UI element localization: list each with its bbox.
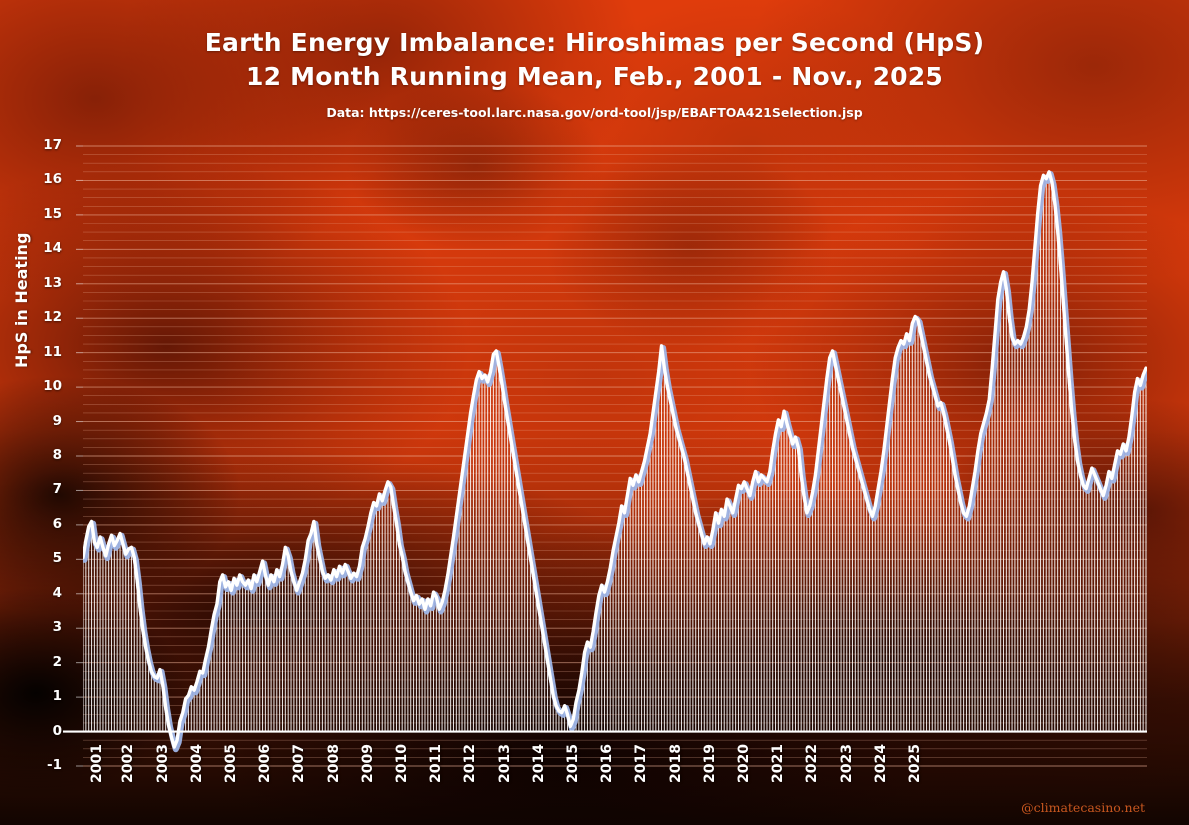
chart-data-source-subtitle: Data: https://ceres-tool.larc.nasa.gov/o… [0, 105, 1189, 120]
y-tick-label-5: 5 [28, 550, 62, 566]
x-tick-label-2008: 2008 [326, 744, 342, 783]
y-tick-label-15: 15 [28, 206, 62, 222]
x-tick-label-2020: 2020 [736, 744, 752, 783]
x-tick-label-2018: 2018 [668, 744, 684, 783]
x-tick-label-2021: 2021 [770, 744, 786, 783]
x-tick-label-2022: 2022 [804, 744, 820, 783]
y-tick-label-neg1: -1 [28, 757, 62, 773]
x-tick-label-2007: 2007 [291, 744, 307, 783]
y-tick-label-11: 11 [28, 344, 62, 360]
y-tick-label-14: 14 [28, 240, 62, 256]
y-axis-ticks [76, 146, 83, 766]
y-tick-label-4: 4 [28, 585, 62, 601]
x-tick-label-2011: 2011 [428, 744, 444, 783]
chart-title-line-1: Earth Energy Imbalance: Hiroshimas per S… [0, 26, 1189, 60]
x-tick-label-2004: 2004 [189, 744, 205, 783]
chart-svg [0, 0, 1189, 825]
x-tick-label-2001: 2001 [89, 744, 105, 783]
y-tick-label-1: 1 [28, 688, 62, 704]
x-tick-label-2017: 2017 [633, 744, 649, 783]
x-tick-label-2013: 2013 [497, 744, 513, 783]
y-tick-label-0: 0 [28, 723, 62, 739]
watermark: @climatecasino.net [1021, 800, 1145, 815]
x-tick-label-2003: 2003 [155, 744, 171, 783]
y-tick-label-17: 17 [28, 137, 62, 153]
x-tick-label-2024: 2024 [873, 744, 889, 783]
x-tick-label-2023: 2023 [839, 744, 855, 783]
chart-plot-area [0, 0, 1189, 825]
y-tick-label-12: 12 [28, 309, 62, 325]
x-tick-label-2012: 2012 [462, 744, 478, 783]
x-tick-label-2016: 2016 [599, 744, 615, 783]
y-tick-label-8: 8 [28, 447, 62, 463]
x-tick-label-2019: 2019 [702, 744, 718, 783]
x-tick-label-2005: 2005 [223, 744, 239, 783]
chart-title-line-2: 12 Month Running Mean, Feb., 2001 - Nov.… [0, 60, 1189, 94]
x-tick-label-2014: 2014 [531, 744, 547, 783]
x-tick-label-2025: 2025 [907, 744, 923, 783]
y-tick-label-7: 7 [28, 481, 62, 497]
y-tick-label-10: 10 [28, 378, 62, 394]
y-tick-label-2: 2 [28, 654, 62, 670]
y-tick-label-16: 16 [28, 171, 62, 187]
x-tick-label-2010: 2010 [394, 744, 410, 783]
x-tick-label-2015: 2015 [565, 744, 581, 783]
y-tick-label-6: 6 [28, 516, 62, 532]
y-tick-label-9: 9 [28, 413, 62, 429]
y-tick-label-13: 13 [28, 275, 62, 291]
x-tick-label-2009: 2009 [360, 744, 376, 783]
x-tick-label-2006: 2006 [257, 744, 273, 783]
x-tick-label-2002: 2002 [120, 744, 136, 783]
y-tick-label-3: 3 [28, 619, 62, 635]
chart-title-block: Earth Energy Imbalance: Hiroshimas per S… [0, 26, 1189, 120]
